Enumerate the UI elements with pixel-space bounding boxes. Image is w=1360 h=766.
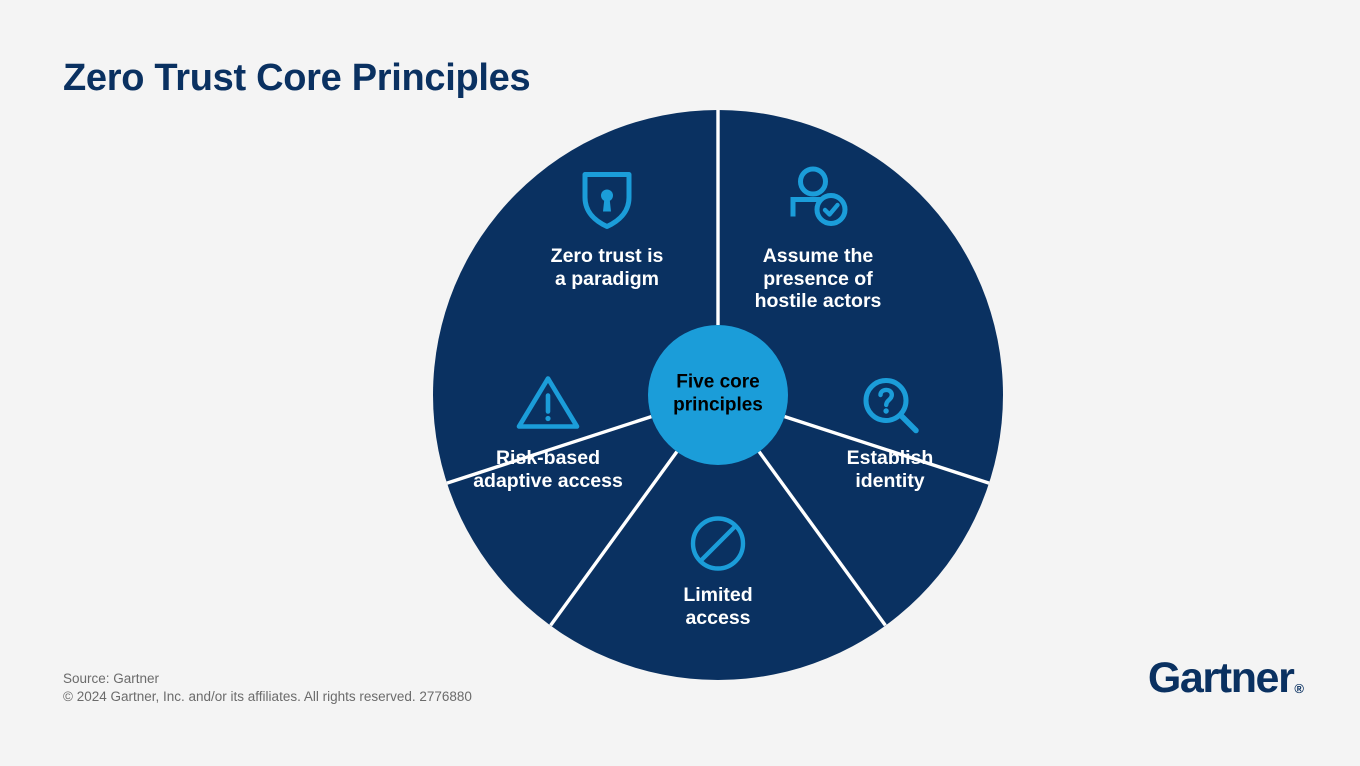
warning-triangle-icon — [515, 374, 581, 437]
footer-source: Source: Gartner — [63, 670, 472, 688]
gartner-wordmark: Gartner — [1148, 654, 1294, 702]
five-core-principles-wheel: Zero trust is a paradigm Assume the pres… — [0, 0, 1360, 766]
footer: Source: Gartner © 2024 Gartner, Inc. and… — [63, 670, 472, 706]
segment-label-hostile-actors: Assume the presence of hostile actors — [755, 245, 882, 313]
magnifier-question-icon — [860, 375, 922, 442]
wheel-center-label: Five core principles — [673, 372, 763, 417]
footer-copyright: © 2024 Gartner, Inc. and/or its affiliat… — [63, 688, 472, 706]
shield-lock-icon — [580, 169, 634, 236]
gartner-logo: Gartner® — [1148, 655, 1303, 711]
segment-label-establish-identity: Establish identity — [847, 447, 934, 492]
segment-label-zero-trust-paradigm: Zero trust is a paradigm — [551, 245, 664, 290]
registered-trademark-icon: ® — [1294, 681, 1304, 696]
prohibition-icon — [689, 515, 747, 578]
segment-label-risk-based-adaptive-access: Risk-based adaptive access — [473, 447, 623, 492]
segment-label-limited-access: Limited access — [683, 584, 752, 629]
person-check-icon — [785, 167, 851, 234]
